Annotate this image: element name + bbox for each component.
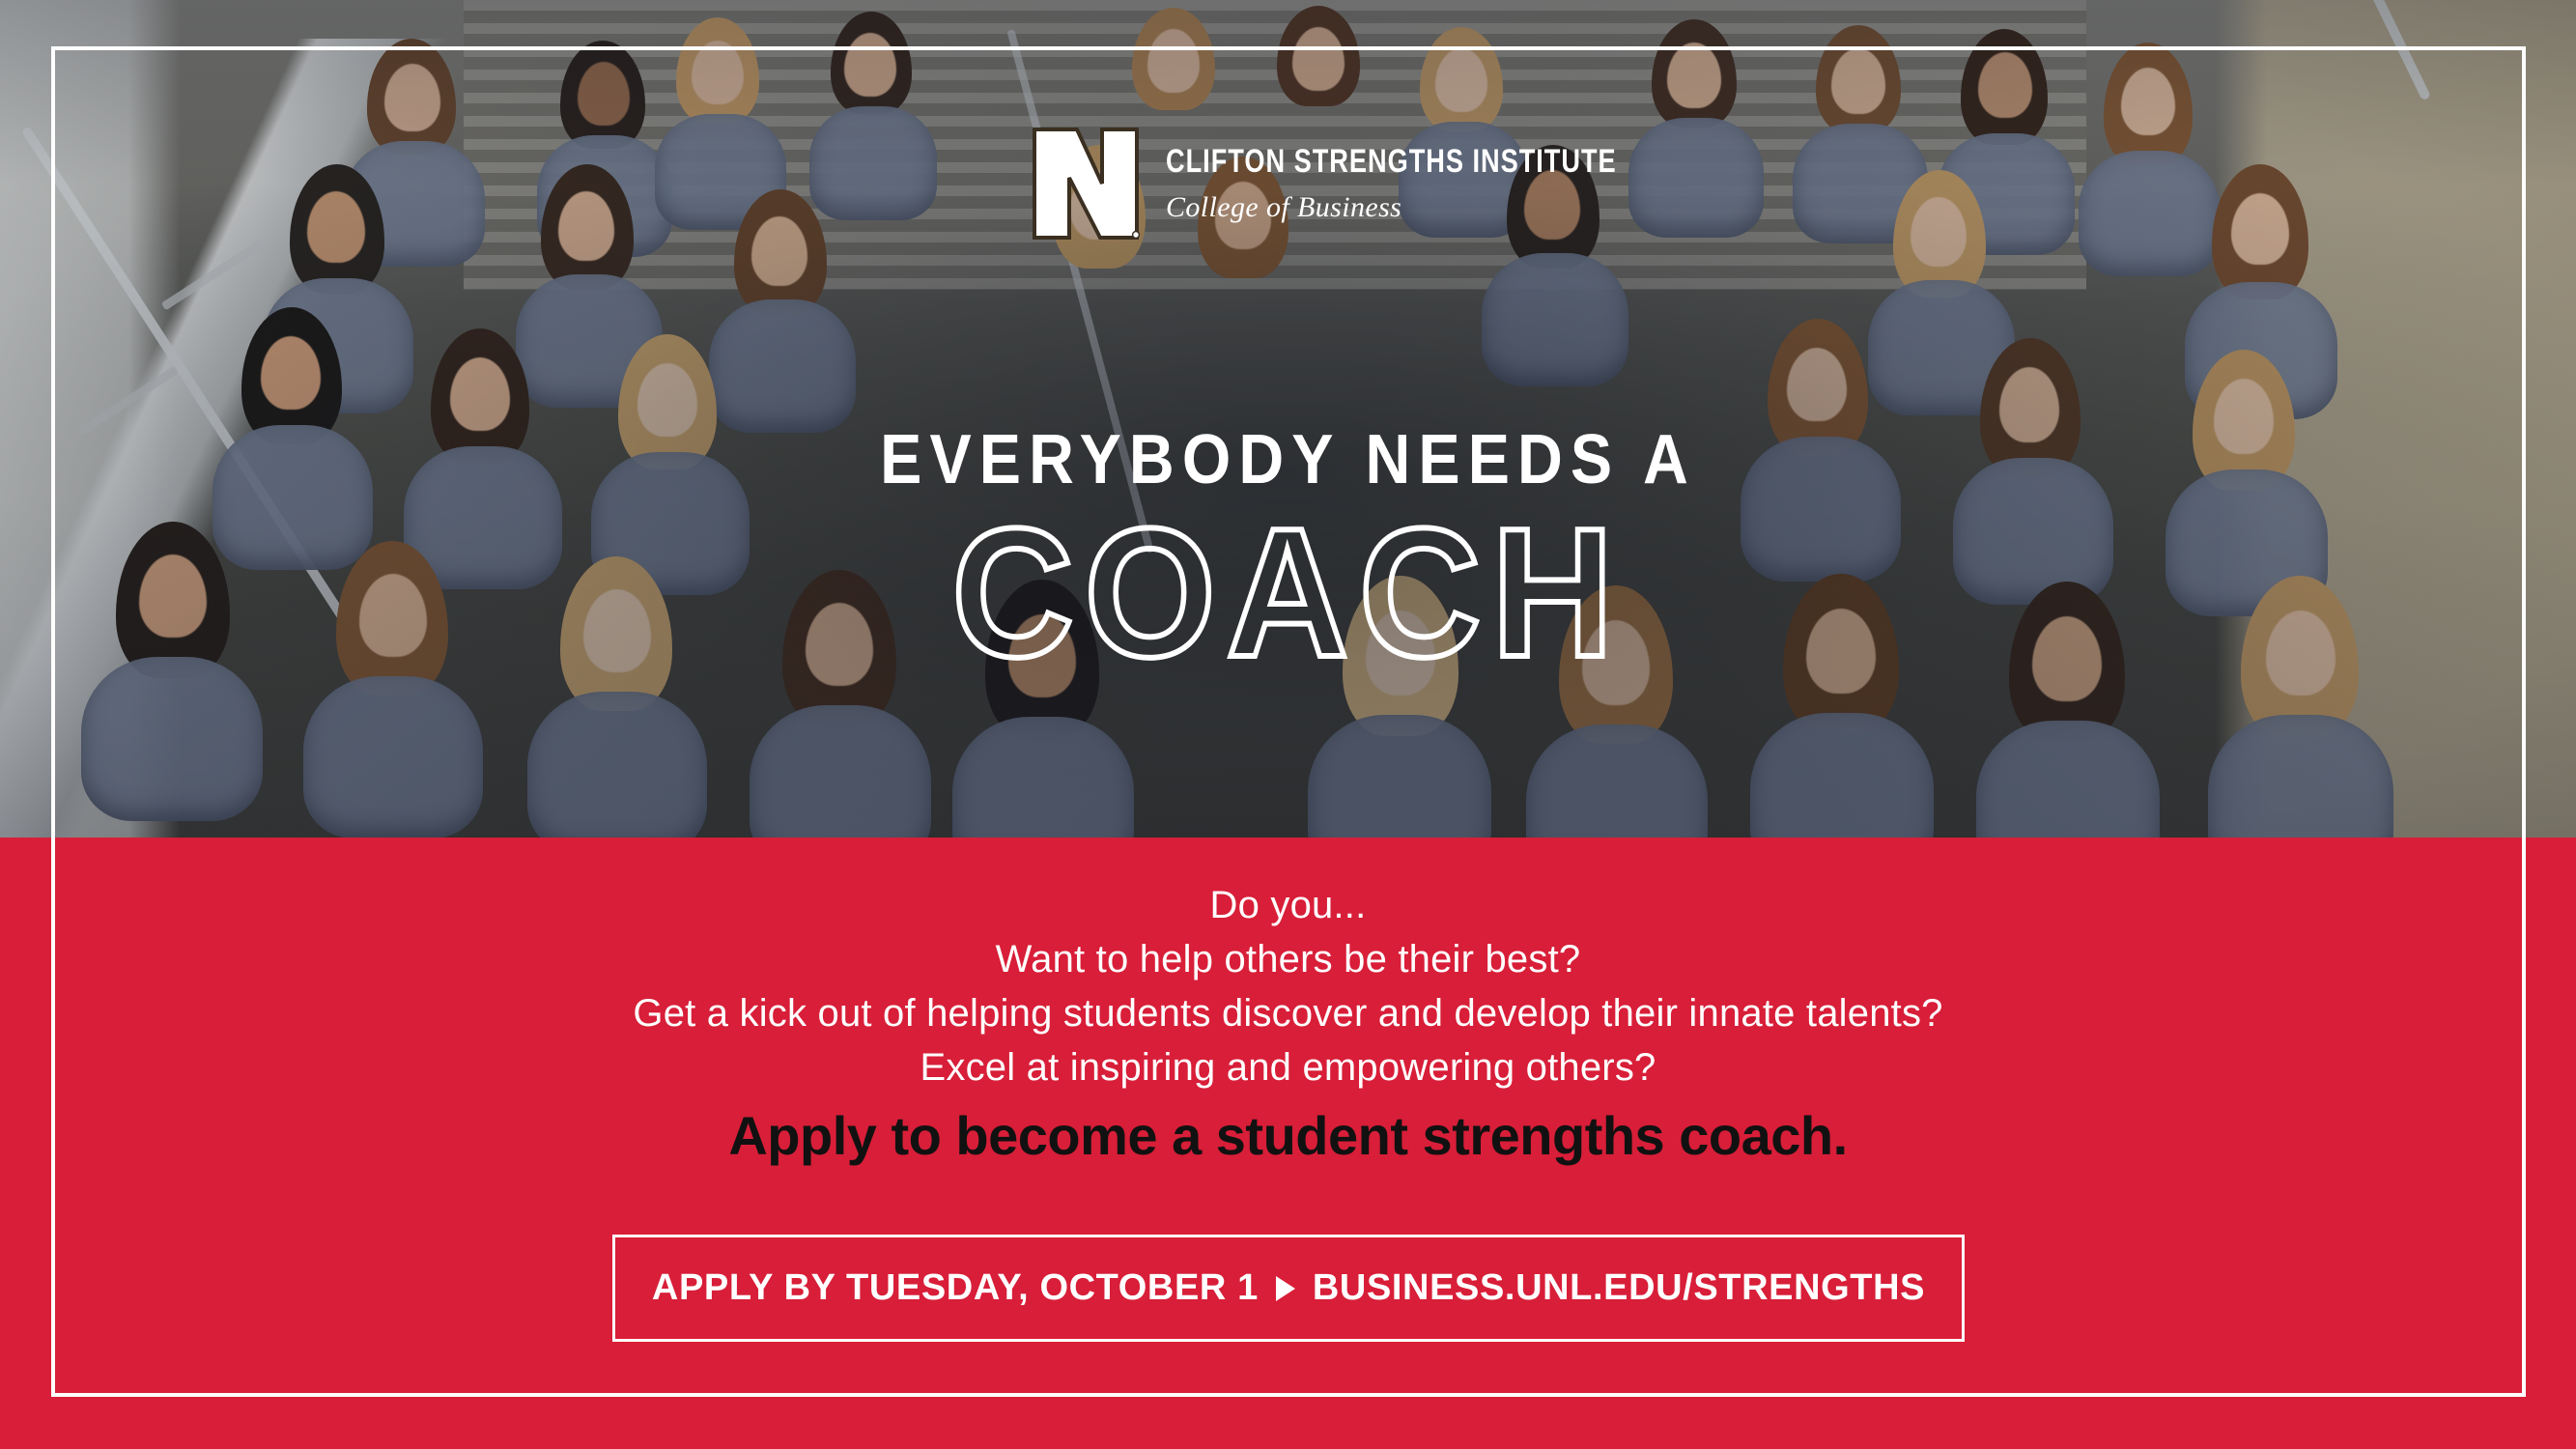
logo-subtitle: College of Business <box>1166 193 1729 222</box>
question-line: Get a kick out of helping students disco… <box>0 986 2576 1040</box>
question-line: Want to help others be their best? <box>0 932 2576 986</box>
cta-deadline: APPLY BY TUESDAY, OCTOBER 1 <box>652 1267 1259 1309</box>
cta-url[interactable]: BUSINESS.UNL.EDU/STRENGTHS <box>1313 1267 1925 1309</box>
hero-headline: EVERYBODY NEEDS A COACH <box>0 425 2576 688</box>
poster-canvas: CLIFTON STRENGTHS INSTITUTE College of B… <box>0 0 2576 1449</box>
question-block: Do you... Want to help others be their b… <box>0 878 2576 1094</box>
logo-wordmark: CLIFTON STRENGTHS INSTITUTE College of B… <box>1166 124 1729 222</box>
cta-text: APPLY BY TUESDAY, OCTOBER 1 BUSINESS.UNL… <box>652 1267 1925 1309</box>
cta-apply-box[interactable]: APPLY BY TUESDAY, OCTOBER 1 BUSINESS.UNL… <box>612 1235 1965 1342</box>
nebraska-n-icon <box>1027 124 1145 243</box>
headline-line-1: EVERYBODY NEEDS A <box>128 425 2447 495</box>
apply-headline: Apply to become a student strengths coac… <box>0 1106 2576 1166</box>
headline-line-2: COACH <box>103 500 2474 688</box>
play-triangle-icon <box>1276 1276 1295 1301</box>
logo-title: CLIFTON STRENGTHS INSTITUTE <box>1166 145 1617 178</box>
logo-lockup: CLIFTON STRENGTHS INSTITUTE College of B… <box>1027 124 1729 243</box>
question-line: Do you... <box>0 878 2576 932</box>
question-line: Excel at inspiring and empowering others… <box>0 1040 2576 1094</box>
